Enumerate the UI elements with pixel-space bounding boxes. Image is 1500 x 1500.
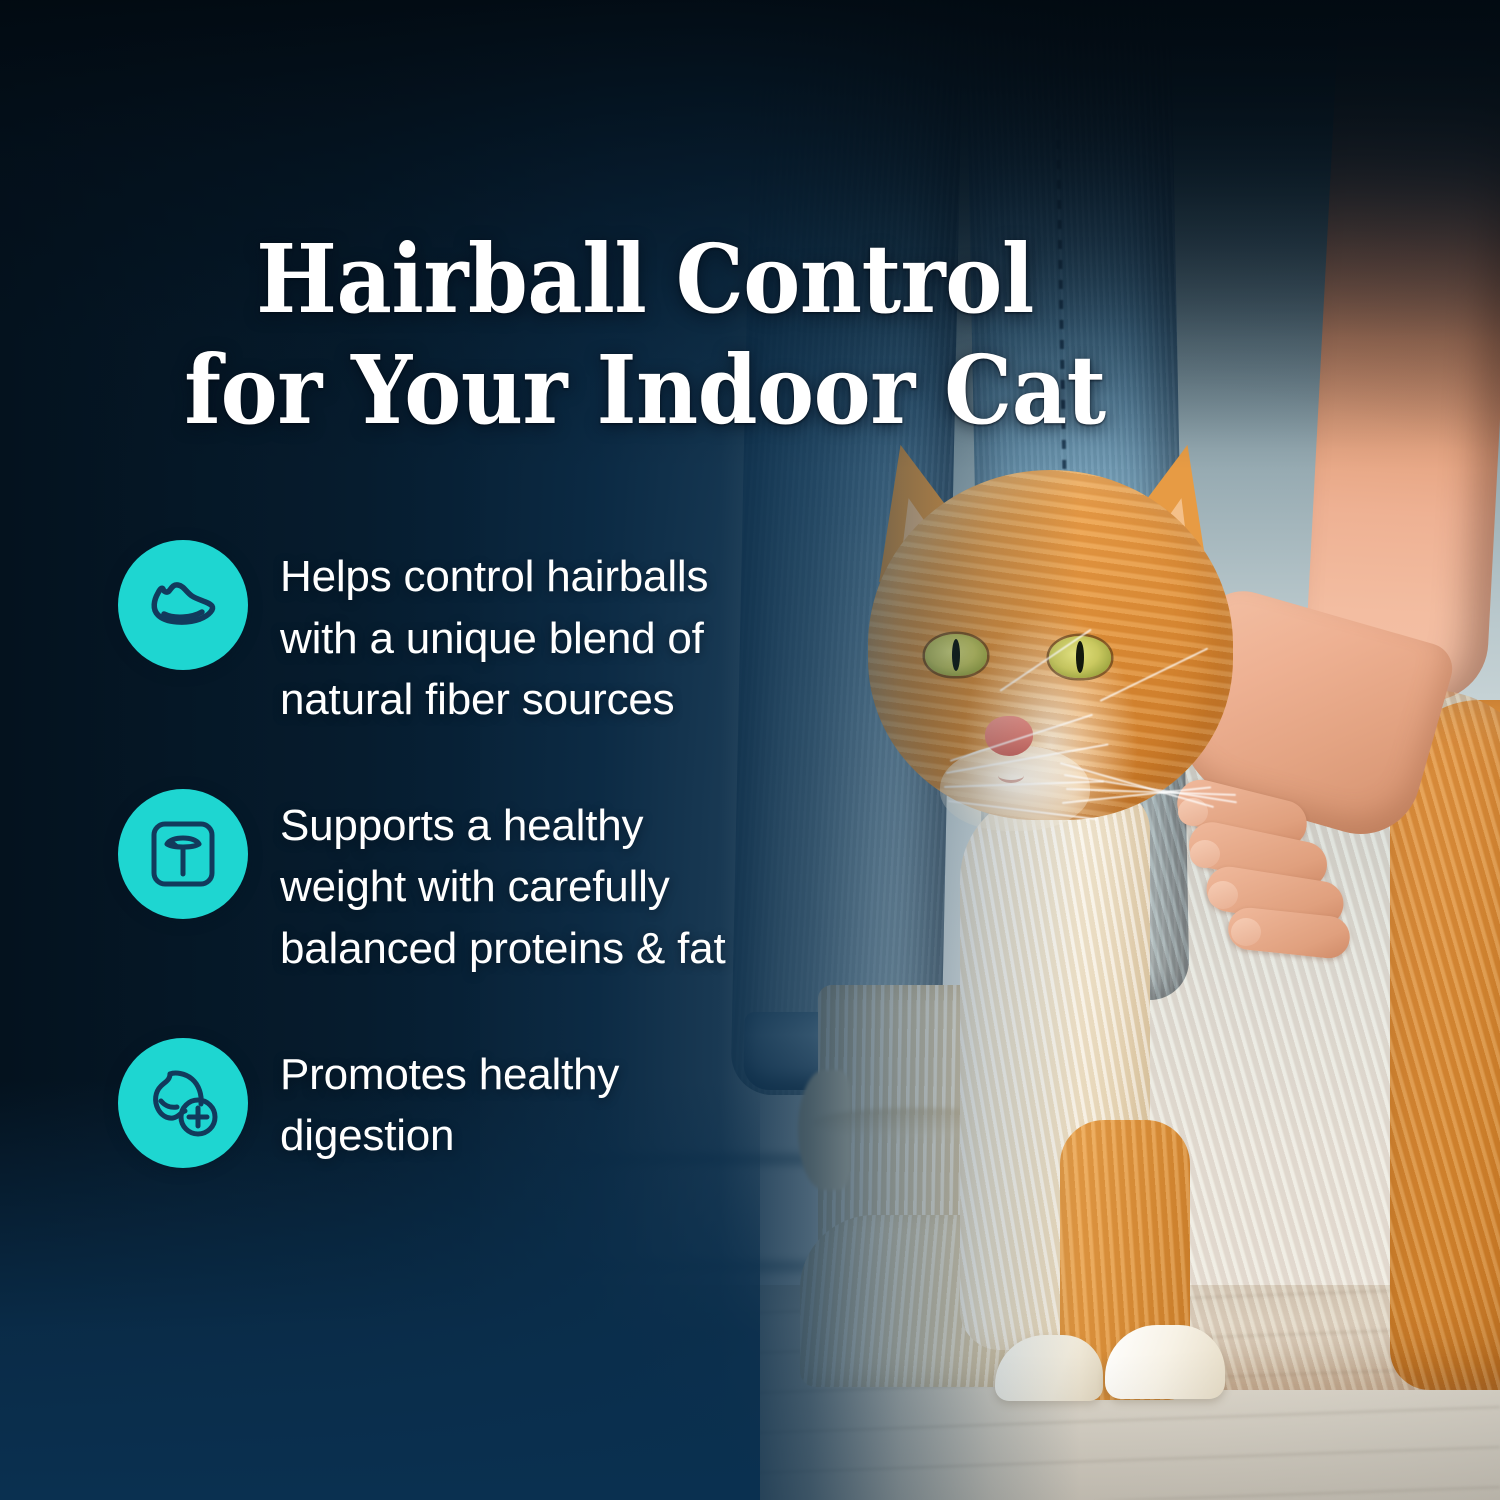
page-title: Hairball Control for Your Indoor Cat [65, 224, 1226, 446]
stomach-plus-icon [118, 1038, 248, 1168]
feature-item-digestion: Promotes healthy digestion [118, 1038, 818, 1168]
content-layer: Hairball Control for Your Indoor Cat Hel… [0, 0, 1500, 1500]
feature-list: Helps control hairballs with a unique bl… [118, 540, 818, 1168]
hairball-icon [118, 540, 248, 670]
feature-text-digestion: Promotes healthy digestion [280, 1038, 619, 1167]
ad-creative-canvas: Hairball Control for Your Indoor Cat Hel… [0, 0, 1500, 1500]
feature-text-hairball: Helps control hairballs with a unique bl… [280, 540, 708, 731]
weight-scale-icon [118, 789, 248, 919]
feature-item-hairball: Helps control hairballs with a unique bl… [118, 540, 818, 731]
feature-item-weight: Supports a healthy weight with carefully… [118, 789, 818, 980]
feature-text-weight: Supports a healthy weight with carefully… [280, 789, 725, 980]
